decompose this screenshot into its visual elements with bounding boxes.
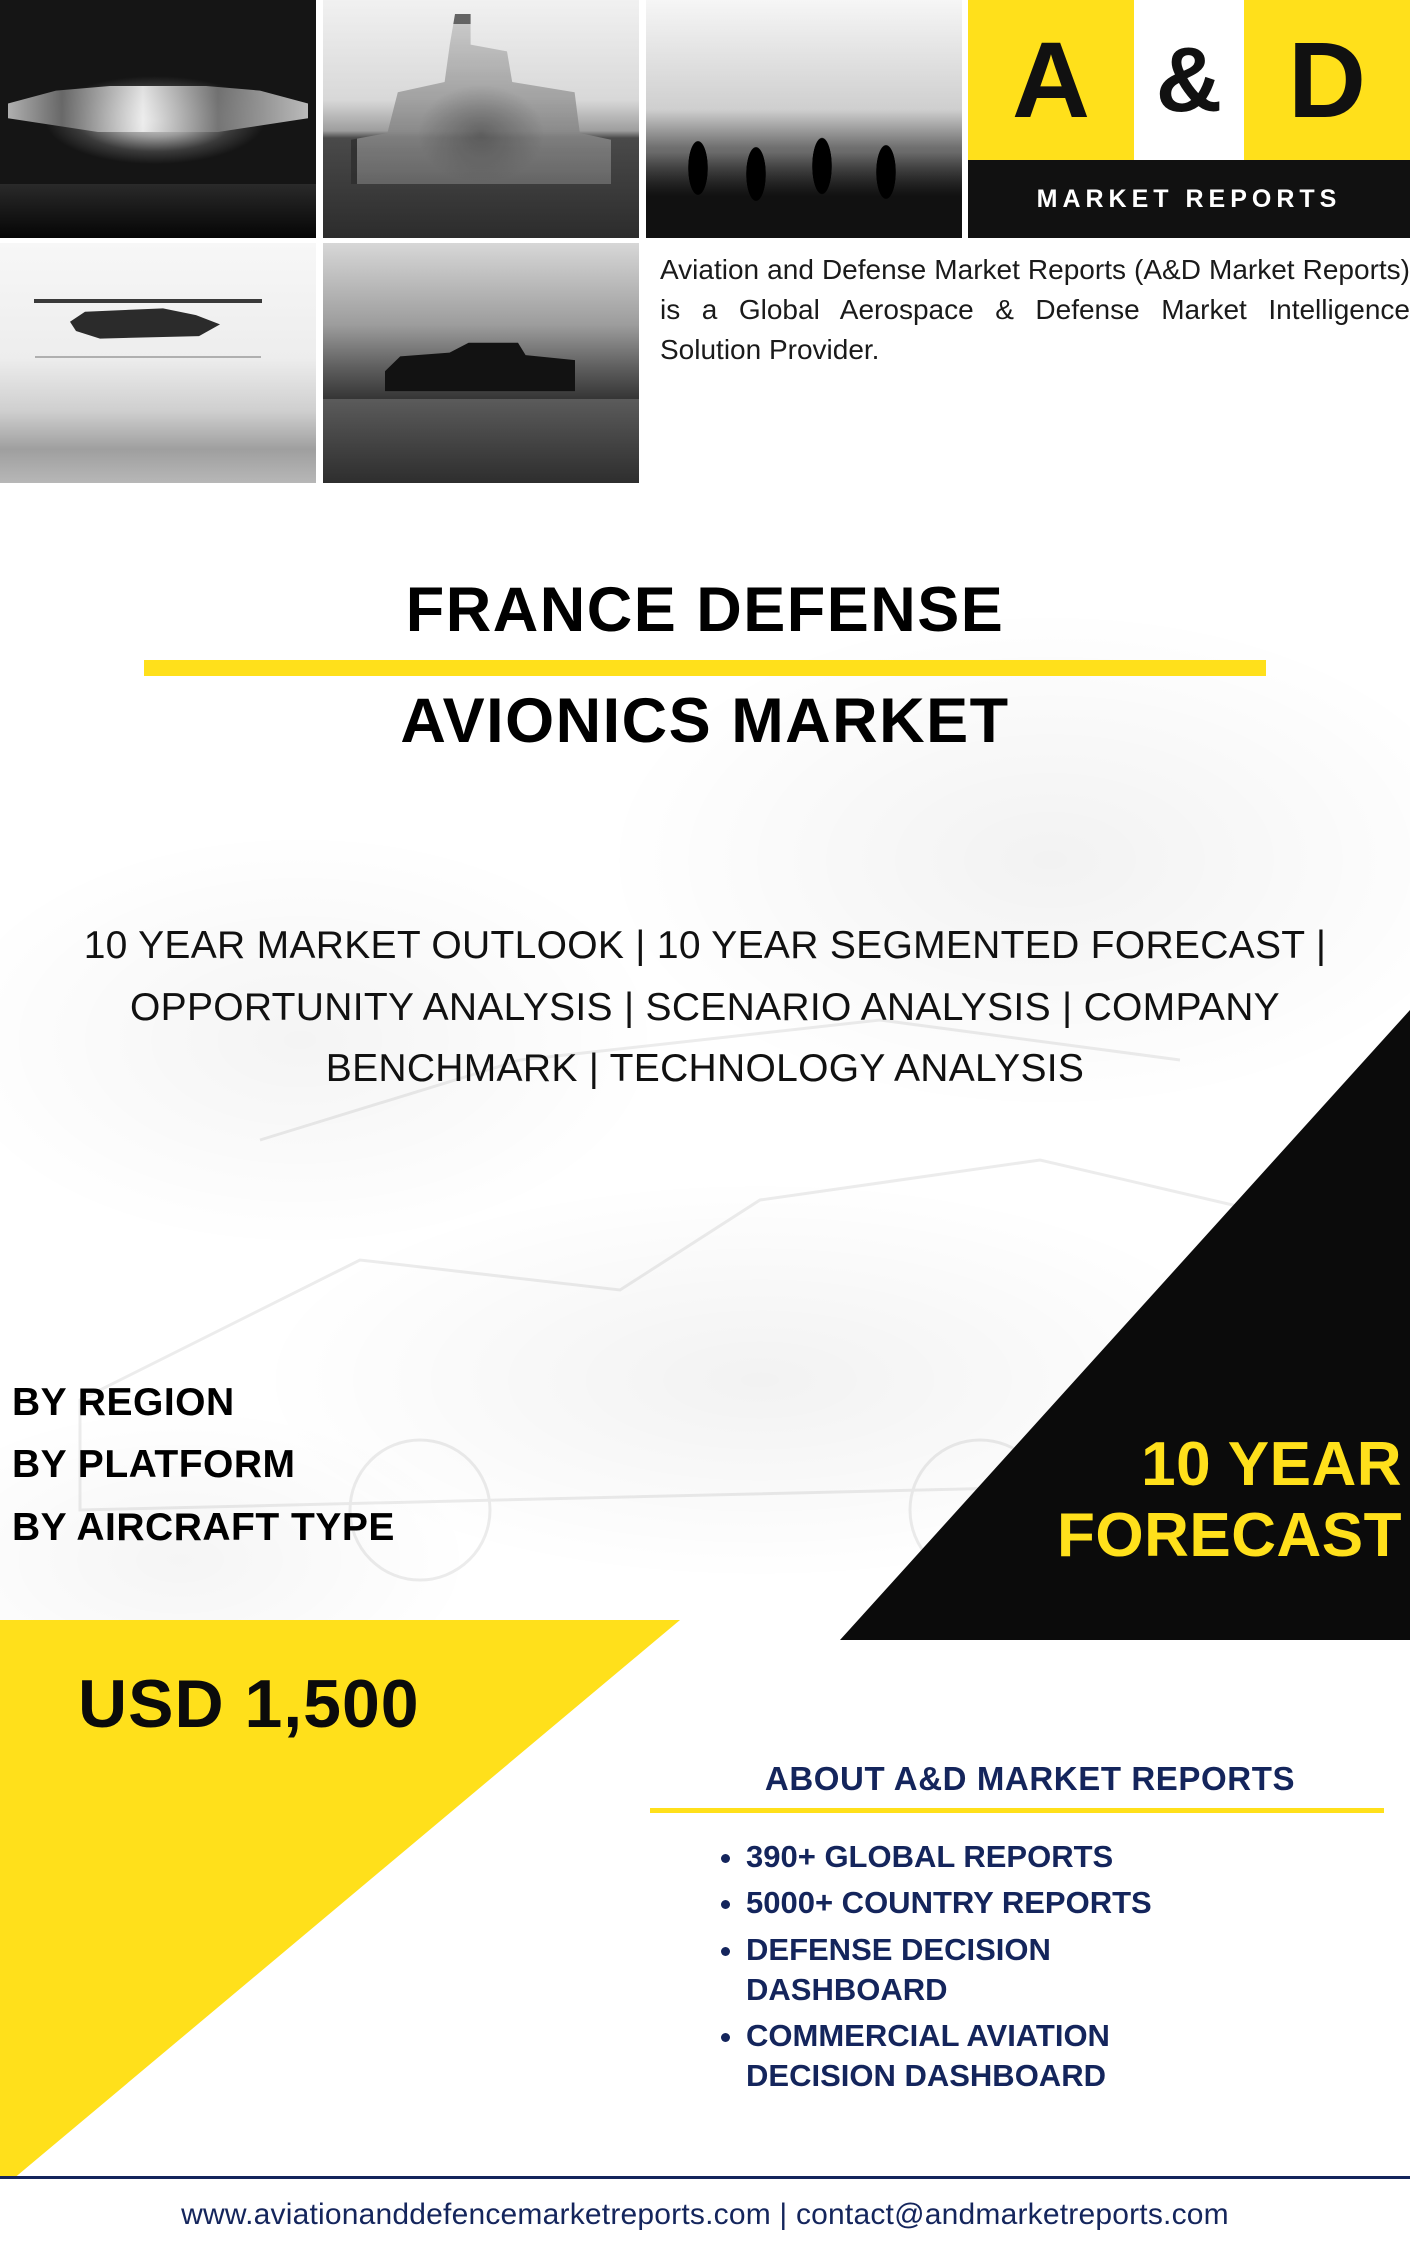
list-item: COMMERCIAL AVIATION DECISION DASHBOARD [746, 2016, 1410, 2097]
about-divider [650, 1808, 1384, 1813]
about-list: 390+ GLOBAL REPORTS 5000+ COUNTRY REPORT… [746, 1837, 1410, 2097]
fighter-jet-photo [0, 0, 316, 238]
report-title: FRANCE DEFENSE AVIONICS MARKET [0, 575, 1410, 756]
footer-contact-text: www.aviationanddefencemarketreports.com … [181, 2198, 1229, 2232]
forecast-badge-line1: 10 YEAR [862, 1430, 1402, 1501]
aircraft-carrier-photo [323, 0, 639, 238]
logo-ampersand-cell: & [1134, 0, 1244, 160]
list-item: 390+ GLOBAL REPORTS [746, 1837, 1410, 1877]
about-item-0-line1: 390+ GLOBAL REPORTS [746, 1837, 1410, 1877]
about-heading: ABOUT A&D MARKET REPORTS [650, 1760, 1410, 1798]
about-section: ABOUT A&D MARKET REPORTS 390+ GLOBAL REP… [650, 1760, 1410, 2103]
segmentation-item-region: BY REGION [12, 1372, 395, 1434]
helicopter-photo [0, 243, 316, 483]
list-item: DEFENSE DECISION DASHBOARD [746, 1930, 1410, 2011]
report-title-line1: FRANCE DEFENSE [0, 575, 1410, 646]
report-cover-page: A & D MARKET REPORTS Aviation and Defens… [0, 0, 1410, 2250]
logo-letter-d-cell: D [1244, 0, 1410, 160]
header-photo-strip [0, 0, 960, 245]
about-item-3-line1: COMMERCIAL AVIATION [746, 2016, 1410, 2056]
list-item: 5000+ COUNTRY REPORTS [746, 1883, 1410, 1923]
about-item-2-line2: DASHBOARD [746, 1970, 1410, 2010]
price-label: USD 1,500 [78, 1665, 420, 1743]
forecast-badge: 10 YEAR FORECAST [862, 1430, 1402, 1571]
brand-logo: A & D MARKET REPORTS [968, 0, 1410, 238]
about-item-2-line1: DEFENSE DECISION [746, 1930, 1410, 1970]
logo-ampersand: & [1156, 34, 1222, 126]
title-divider [144, 660, 1266, 676]
logo-subtitle: MARKET REPORTS [1037, 185, 1342, 214]
intro-paragraph: Aviation and Defense Market Reports (A&D… [660, 250, 1410, 369]
segmentation-item-aircraft-type: BY AIRCRAFT TYPE [12, 1497, 395, 1559]
logo-letter-d: D [1288, 26, 1366, 134]
segmentation-item-platform: BY PLATFORM [12, 1434, 395, 1496]
footer-bar: www.aviationanddefencemarketreports.com … [0, 2176, 1410, 2250]
logo-letter-a-cell: A [968, 0, 1134, 160]
forecast-badge-line2: FORECAST [862, 1501, 1402, 1572]
logo-letter-a: A [1012, 26, 1090, 134]
report-title-line2: AVIONICS MARKET [0, 686, 1410, 757]
report-subtitle: 10 YEAR MARKET OUTLOOK | 10 YEAR SEGMENT… [40, 915, 1370, 1100]
logo-subtitle-bar: MARKET REPORTS [968, 160, 1410, 238]
soldiers-silhouette-photo [646, 0, 962, 238]
about-item-3-line2: DECISION DASHBOARD [746, 2056, 1410, 2096]
about-item-1-line1: 5000+ COUNTRY REPORTS [746, 1883, 1410, 1923]
segmentation-list: BY REGION BY PLATFORM BY AIRCRAFT TYPE [12, 1372, 395, 1559]
armored-vehicle-photo [323, 243, 639, 483]
